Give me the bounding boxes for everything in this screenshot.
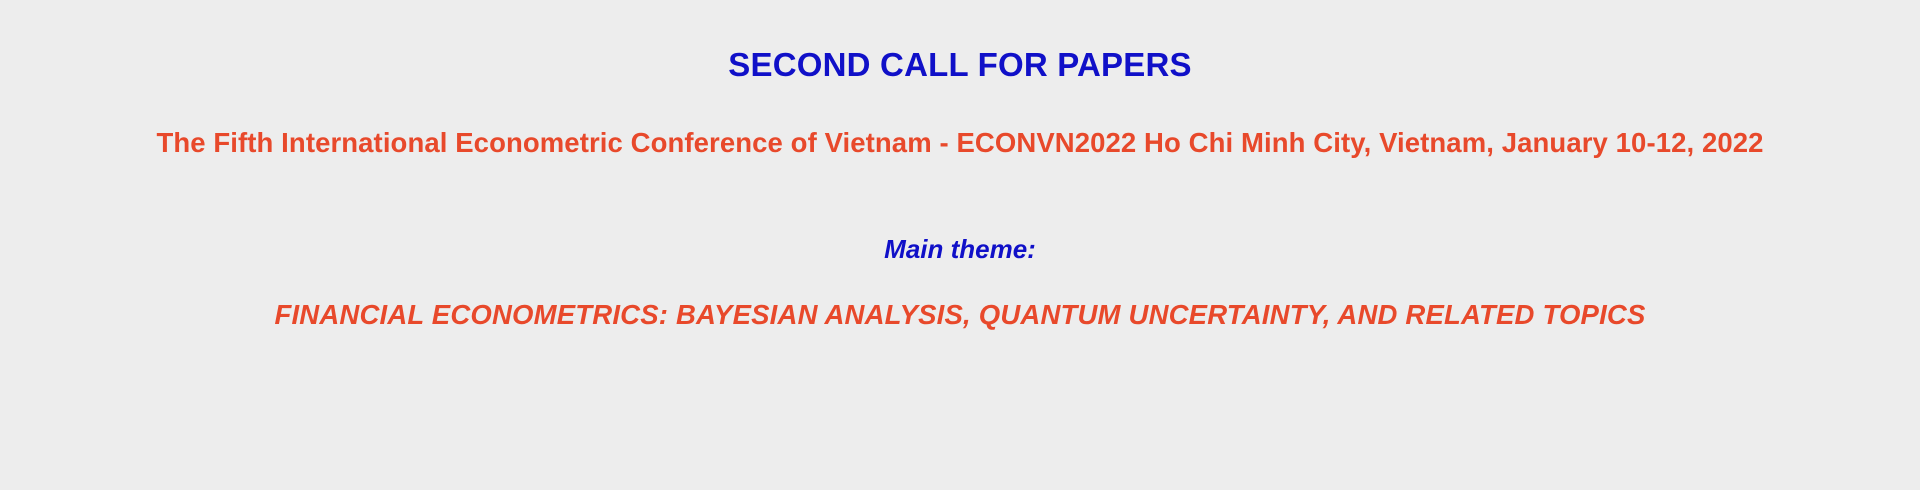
main-theme-text: FINANCIAL ECONOMETRICS: BAYESIAN ANALYSI…: [180, 294, 1740, 336]
page-title: SECOND CALL FOR PAPERS: [0, 44, 1920, 86]
main-theme-label: Main theme:: [0, 230, 1920, 268]
conference-title: The Fifth International Econometric Conf…: [150, 120, 1770, 165]
call-for-papers-announcement: SECOND CALL FOR PAPERS The Fifth Interna…: [0, 0, 1920, 490]
